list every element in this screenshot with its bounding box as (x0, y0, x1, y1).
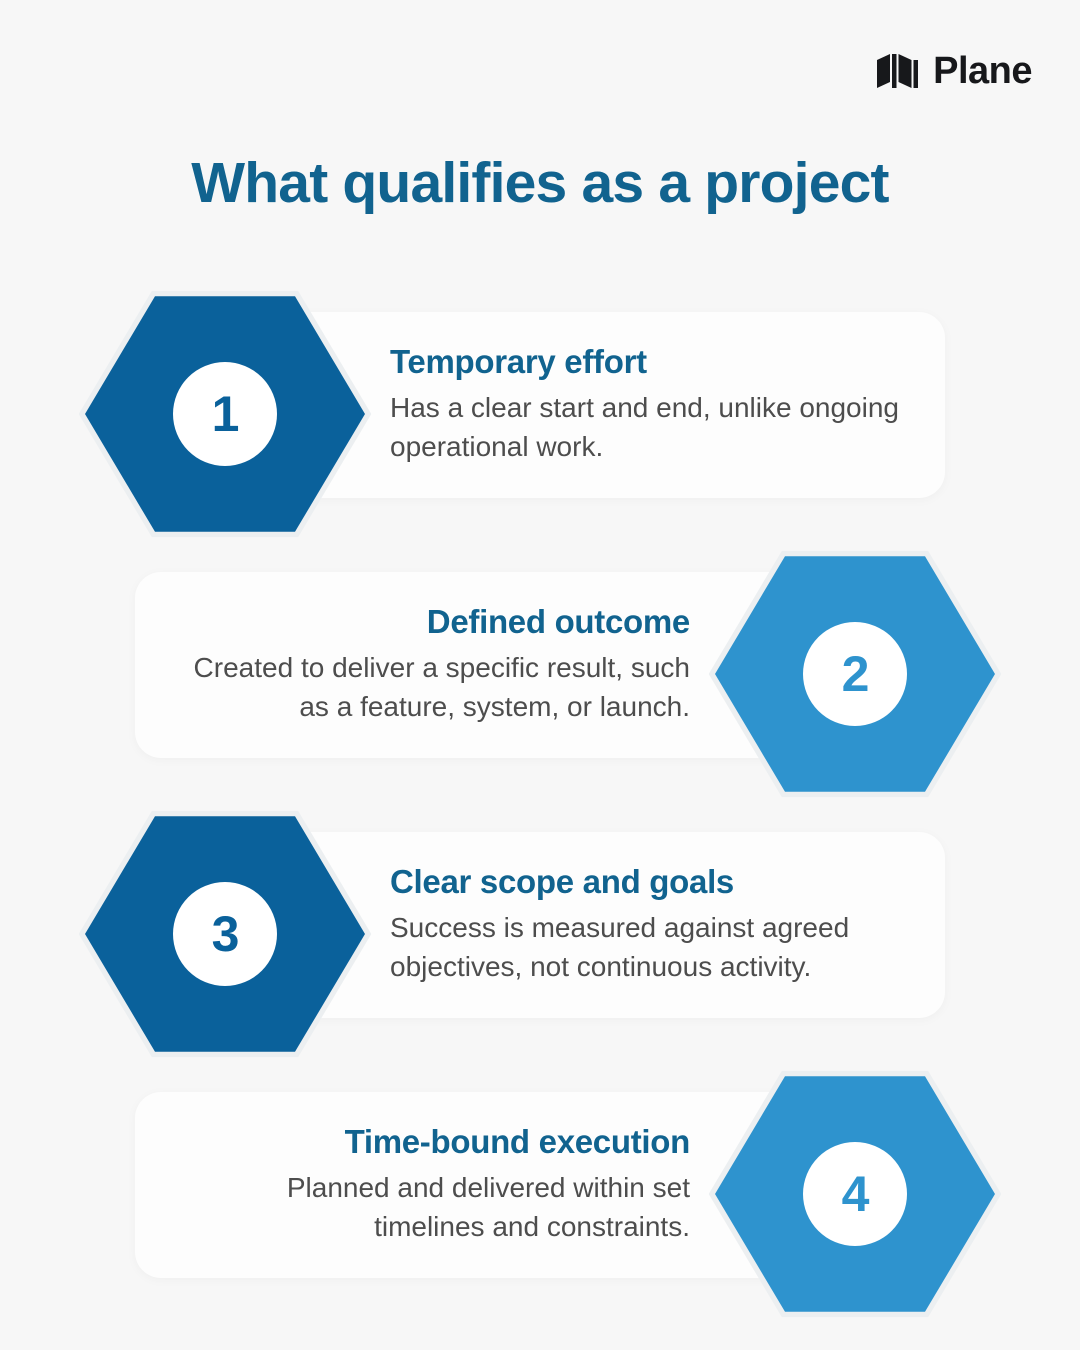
list-item: Clear scope and goals Success is measure… (0, 810, 1080, 1058)
badge-number: 3 (212, 909, 239, 959)
badge-number: 1 (212, 389, 239, 439)
plane-logo-mark (875, 52, 921, 90)
badge-number: 2 (842, 649, 869, 699)
hexagon-badge-4: 4 (715, 1070, 995, 1318)
badge-circle: 4 (803, 1142, 907, 1246)
page-title: What qualifies as a project (0, 152, 1080, 215)
hexagon-badge-2: 2 (715, 550, 995, 798)
brand-name: Plane (933, 52, 1032, 90)
hexagon-badge-1: 1 (85, 290, 365, 538)
criteria-description: Planned and delivered within set timelin… (181, 1168, 690, 1248)
criteria-list: Temporary effort Has a clear start and e… (0, 290, 1080, 1330)
criteria-title: Clear scope and goals (390, 863, 899, 901)
brand-logo: Plane (875, 52, 1032, 90)
criteria-description: Created to deliver a specific result, su… (181, 648, 690, 728)
hexagon-badge-3: 3 (85, 810, 365, 1058)
criteria-description: Has a clear start and end, unlike ongoin… (390, 388, 899, 468)
badge-circle: 2 (803, 622, 907, 726)
list-item: Time-bound execution Planned and deliver… (0, 1070, 1080, 1318)
criteria-title: Temporary effort (390, 343, 899, 381)
list-item: Temporary effort Has a clear start and e… (0, 290, 1080, 538)
badge-circle: 1 (173, 362, 277, 466)
criteria-description: Success is measured against agreed objec… (390, 908, 899, 988)
badge-number: 4 (842, 1169, 869, 1219)
criteria-title: Defined outcome (181, 603, 690, 641)
criteria-title: Time-bound execution (181, 1123, 690, 1161)
list-item: Defined outcome Created to deliver a spe… (0, 550, 1080, 798)
badge-circle: 3 (173, 882, 277, 986)
